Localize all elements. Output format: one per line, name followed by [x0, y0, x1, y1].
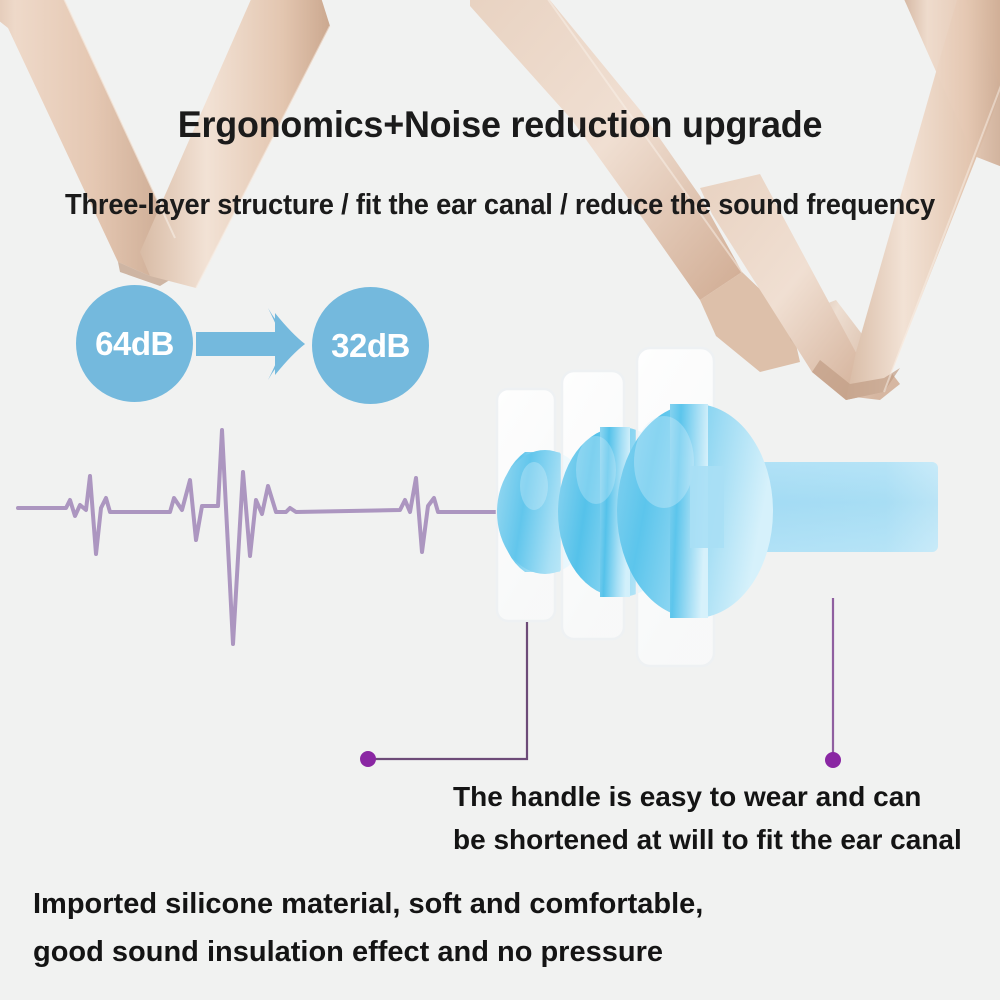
handle-callout: The handle is easy to wear and can be sh…: [453, 775, 962, 861]
material-callout-line-1: Imported silicone material, soft and com…: [33, 880, 703, 928]
text-content: Ergonomics+Noise reduction upgrade Three…: [0, 0, 1000, 1000]
material-callout-line-2: good sound insulation effect and no pres…: [33, 928, 703, 976]
material-callout: Imported silicone material, soft and com…: [33, 880, 703, 976]
page-subtitle: Three-layer structure / fit the ear cana…: [30, 185, 970, 225]
infographic-canvas: 64dB 32dB Ergonomics+Noise reduction upg…: [0, 0, 1000, 1000]
handle-callout-line-1: The handle is easy to wear and can: [453, 775, 962, 818]
page-title: Ergonomics+Noise reduction upgrade: [15, 101, 985, 148]
handle-callout-line-2: be shortened at will to fit the ear cana…: [453, 818, 962, 861]
